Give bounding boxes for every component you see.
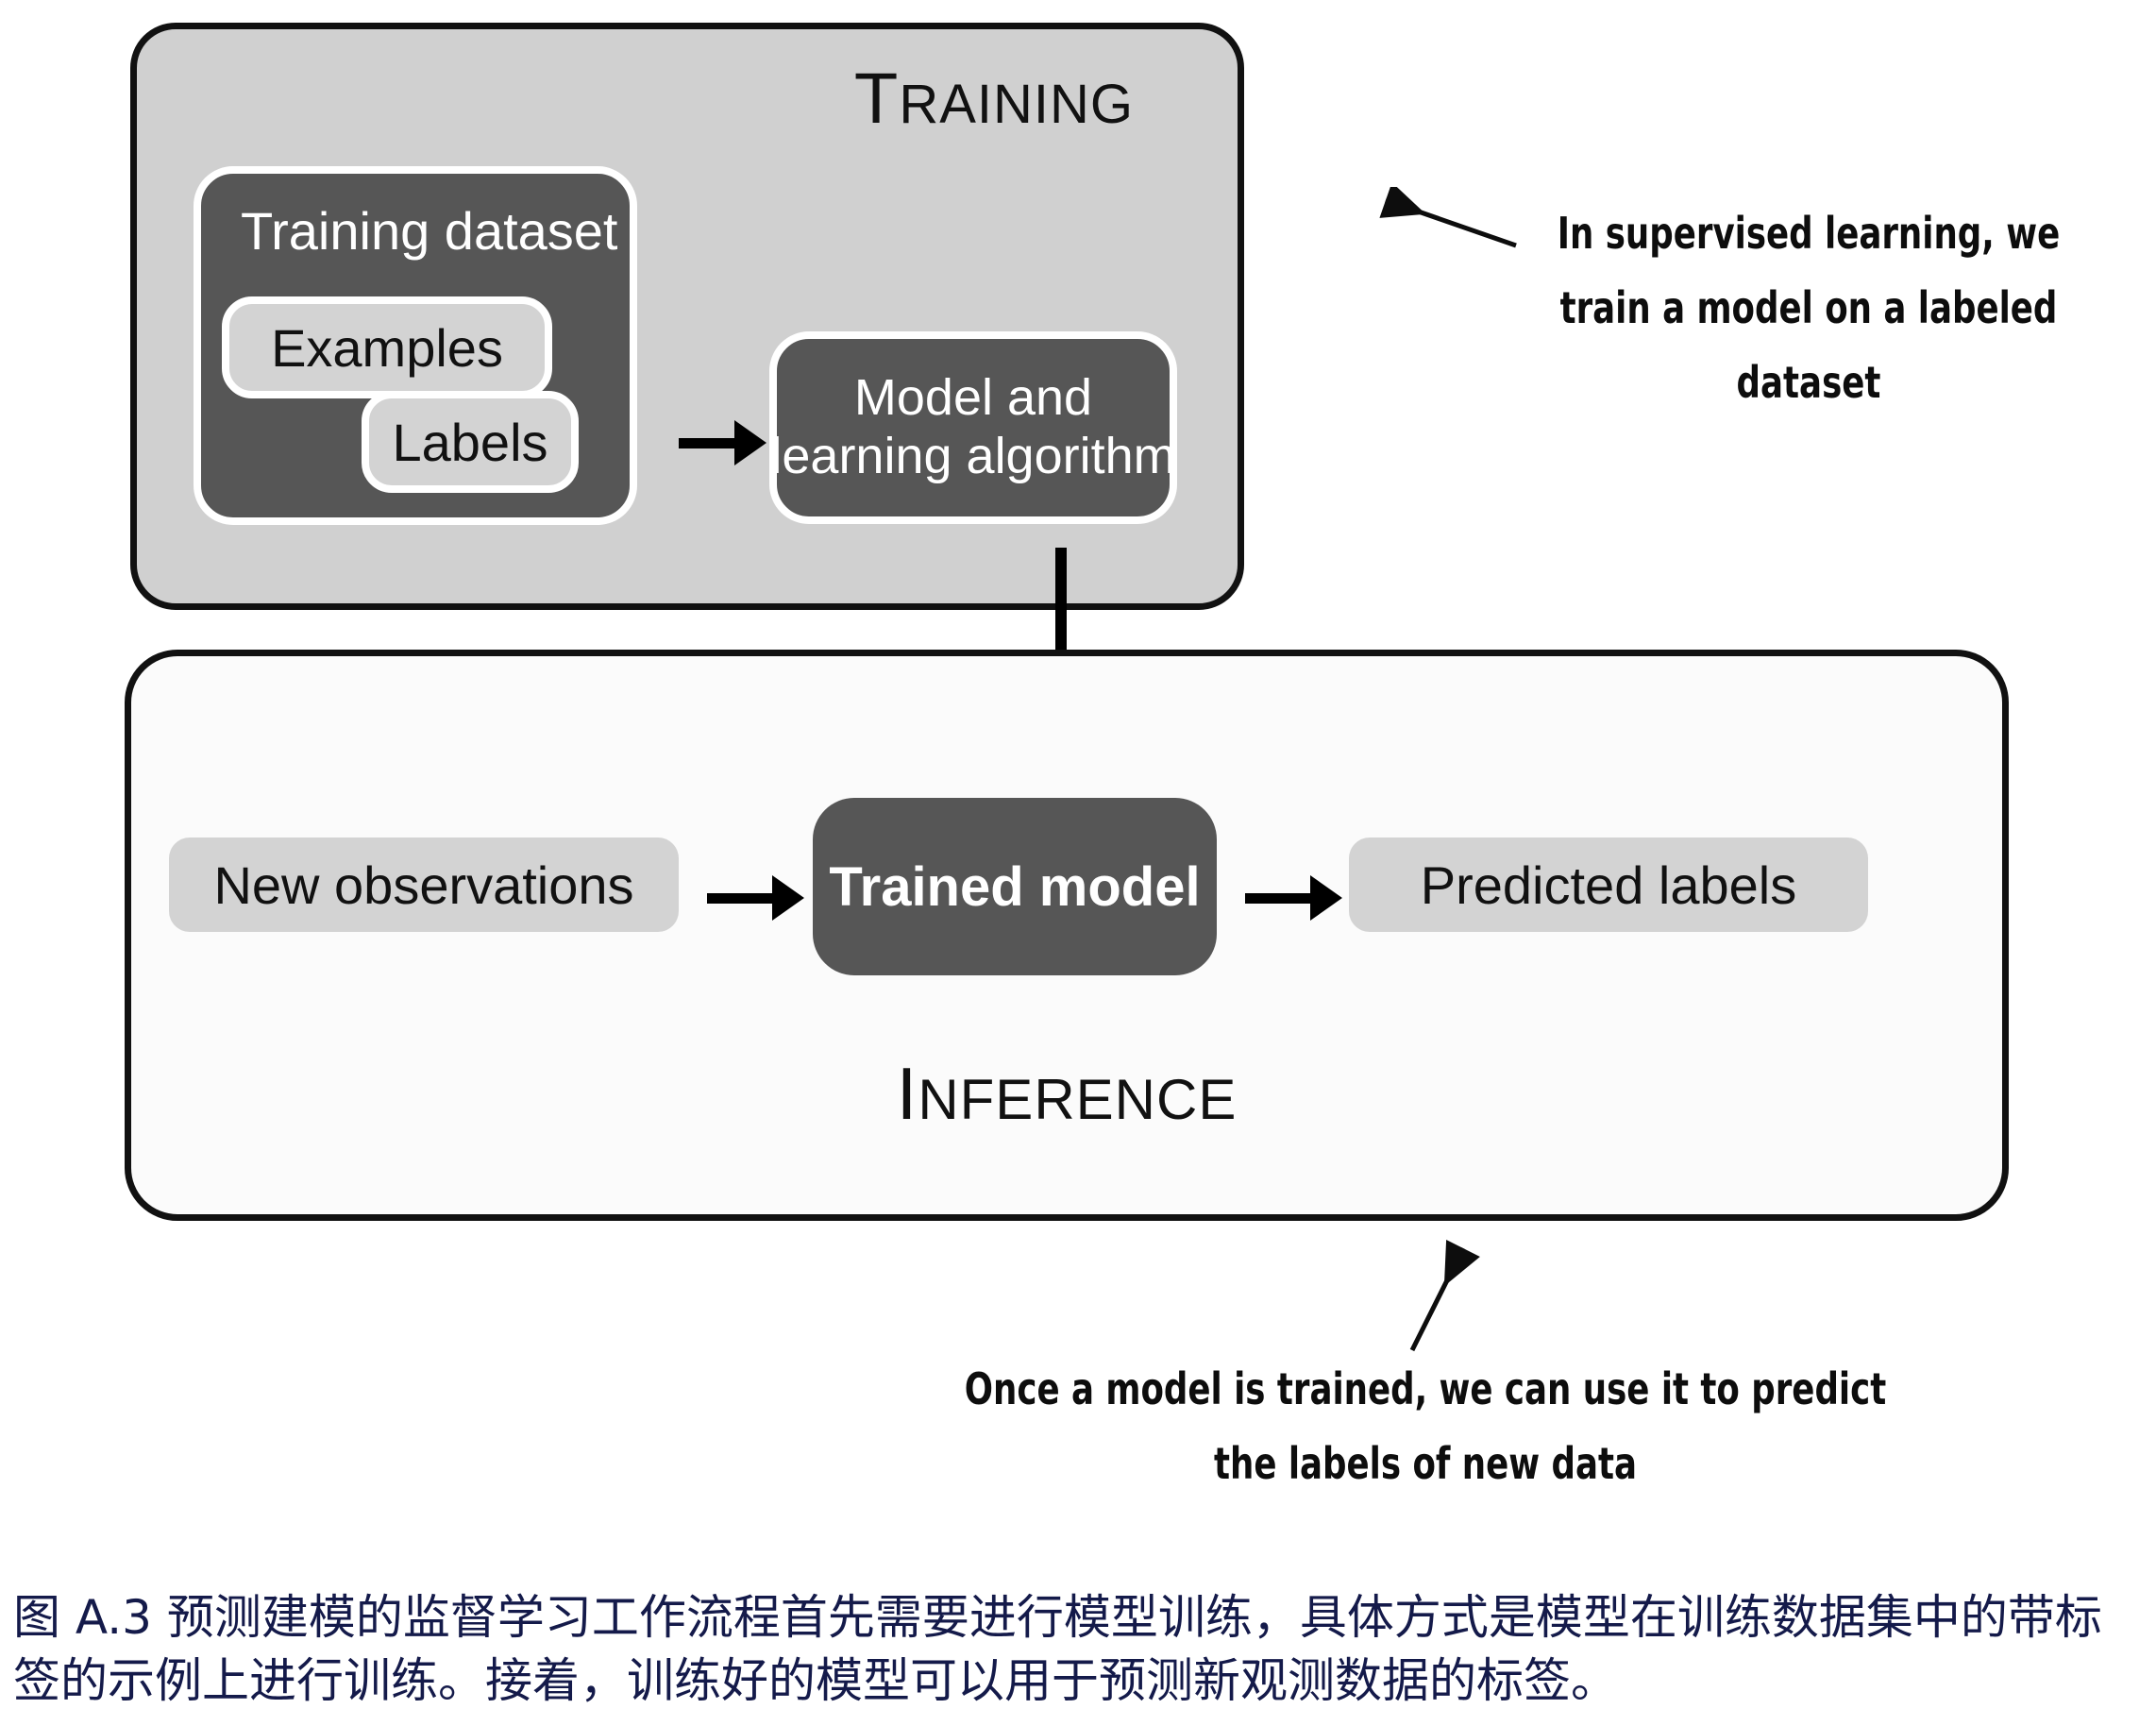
predicted-labels-label: Predicted labels	[1421, 855, 1796, 916]
new-observations-label: New observations	[213, 855, 633, 916]
examples-label: Examples	[271, 317, 503, 379]
training-section-title: TRAINING	[854, 58, 1134, 140]
training-dataset-label: Training dataset	[241, 200, 618, 262]
arrow-dataset-to-model-icon	[679, 420, 766, 465]
model-box-line-1: Model and	[854, 369, 1092, 428]
training-panel: TRAINING Training dataset Examples Label…	[130, 23, 1244, 610]
arrow-observations-to-model-icon	[707, 875, 804, 921]
inference-panel: New observations Trained model Predicted…	[125, 650, 2009, 1221]
new-observations-box: New observations	[169, 838, 679, 932]
predicted-labels-box: Predicted labels	[1349, 838, 1868, 932]
annotation-top-line-3: dataset	[1549, 346, 2068, 420]
leader-line-bottom-annotation-icon	[1395, 1227, 1499, 1360]
training-title-cap: T	[854, 59, 899, 139]
inference-title-cap: I	[897, 1052, 918, 1135]
arrow-shaft	[707, 893, 773, 904]
inference-section-title: INFERENCE	[131, 1051, 2002, 1137]
annotation-top-line-1: In supervised learning, we	[1549, 196, 2068, 271]
labels-box: Labels	[362, 391, 579, 493]
arrow-shaft	[679, 438, 735, 448]
figure-supervised-learning-workflow: TRAINING Training dataset Examples Label…	[0, 0, 2156, 1726]
arrow-shaft	[1245, 893, 1311, 904]
arrow-model-to-predicted-icon	[1245, 875, 1342, 921]
training-dataset-box: Training dataset Examples Labels	[194, 166, 637, 525]
figure-caption: 图 A.3 预测建模的监督学习工作流程首先需要进行模型训练，具体方式是模型在训练…	[13, 1586, 2148, 1713]
arrow-head	[1310, 875, 1342, 921]
annotation-bottom-line-2: the labels of new data	[963, 1427, 1888, 1501]
trained-model-box: Trained model	[813, 798, 1217, 975]
annotation-prediction: Once a model is trained, we can use it t…	[963, 1352, 1888, 1501]
model-and-learning-algorithm-box: Model and learning algorithm	[769, 331, 1177, 524]
annotation-supervised-learning: In supervised learning, we train a model…	[1549, 196, 2068, 420]
inference-title-smallcaps: NFERENCE	[918, 1068, 1237, 1131]
labels-label: Labels	[392, 412, 547, 473]
examples-box: Examples	[222, 296, 552, 398]
model-box-line-2: learning algorithm	[770, 428, 1175, 486]
arrow-head	[772, 875, 804, 921]
annotation-top-line-2: train a model on a labeled	[1549, 271, 2068, 346]
leader-line-top-annotation-icon	[1374, 187, 1525, 272]
arrow-head	[734, 420, 766, 465]
annotation-bottom-line-1: Once a model is trained, we can use it t…	[963, 1352, 1888, 1427]
trained-model-label: Trained model	[829, 855, 1200, 919]
training-title-smallcaps: RAINING	[899, 74, 1134, 135]
